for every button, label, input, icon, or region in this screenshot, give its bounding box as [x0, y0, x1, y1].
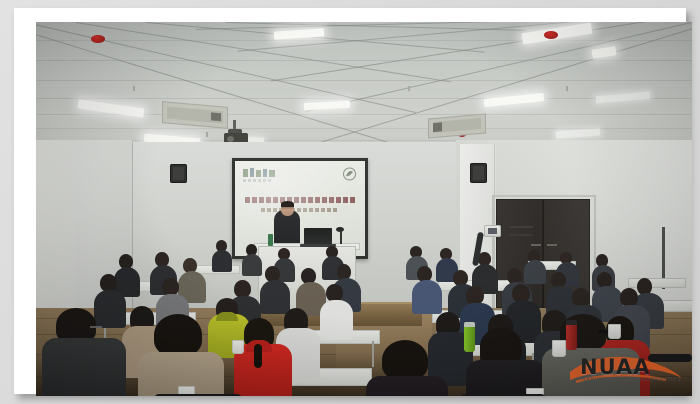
ceiling-fitting [408, 86, 410, 91]
green-thermos [464, 326, 475, 352]
phone-camera [484, 225, 501, 237]
left-wall-near [36, 140, 76, 335]
smoke-detector [544, 31, 558, 39]
ceiling-fitting [566, 86, 568, 91]
photo-mat: NUAA NANJING UNIV. OF AERONAUTICS [14, 8, 686, 394]
ceiling-fitting [206, 132, 208, 137]
ceiling-lamp [484, 93, 545, 107]
podium-bottle [268, 234, 273, 246]
lecture-hall-photograph: NUAA NANJING UNIV. OF AERONAUTICS [36, 22, 692, 396]
paper-cup [552, 340, 566, 357]
ceiling-lamp [591, 46, 616, 59]
ac-vent [428, 113, 486, 138]
presenter-hair [281, 201, 294, 207]
chair-back [154, 394, 242, 396]
ceiling-fitting [133, 86, 135, 91]
wall-speaker [470, 163, 487, 183]
smoke-detector [91, 35, 105, 43]
microphone-stem [340, 230, 342, 244]
red-thermos [566, 324, 577, 350]
ceiling [36, 22, 692, 150]
chair-back [460, 394, 546, 396]
ceiling-lamp [596, 92, 650, 104]
ceiling-lamp [304, 101, 350, 110]
paper-cup [608, 324, 621, 339]
photo-backdrop: NUAA NANJING UNIV. OF AERONAUTICS [0, 0, 700, 404]
desk-leg [372, 341, 374, 367]
presenter-laptop [304, 228, 332, 245]
chair-back [648, 354, 692, 362]
screen-glare [235, 161, 365, 256]
projection-screen [235, 161, 365, 256]
paper-cup [232, 340, 244, 354]
wall-speaker [170, 164, 187, 183]
ceiling-lamp [556, 128, 600, 138]
ac-vent [162, 101, 228, 129]
